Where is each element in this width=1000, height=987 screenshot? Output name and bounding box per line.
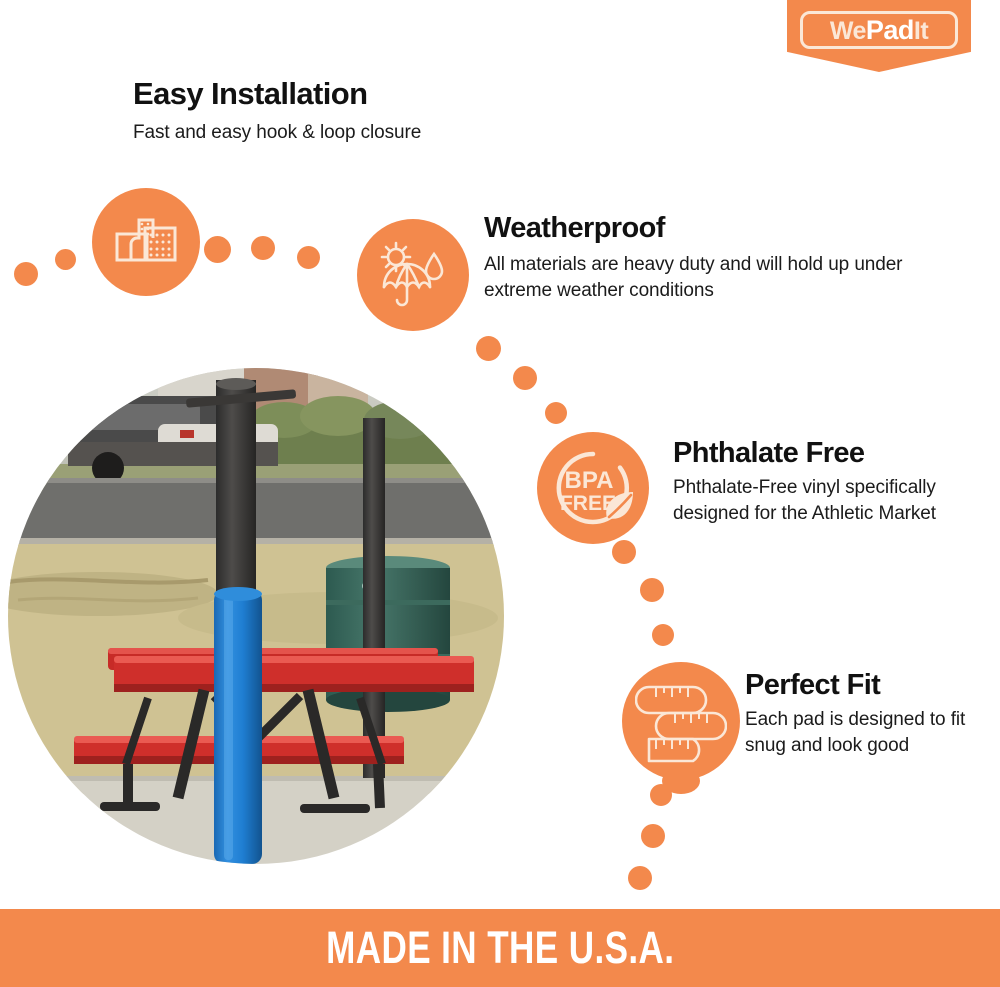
product-photo: [8, 368, 504, 864]
feature-block-phthalate-free: Phthalate Free Phthalate-Free vinyl spec…: [673, 438, 973, 526]
feature-title: Phthalate Free: [673, 438, 973, 468]
feature-title: Weatherproof: [484, 213, 914, 243]
path-dot: [545, 402, 567, 424]
path-dot: [640, 578, 664, 602]
path-dot: [652, 624, 674, 646]
feature-description: Each pad is designed to fit snug and loo…: [745, 707, 995, 757]
feature-icon-weatherproof: [357, 219, 469, 331]
feature-description: All materials are heavy duty and will ho…: [484, 252, 914, 302]
made-in-usa-text: MADE IN THE U.S.A.: [326, 922, 674, 974]
brand-logo: WePadIt: [787, 0, 971, 72]
feature-block-weatherproof: Weatherproof All materials are heavy dut…: [484, 213, 914, 303]
logo-text-we: We: [830, 17, 866, 45]
path-dot: [513, 366, 537, 390]
infographic-page: WePadIt Easy Installation Fast and easy …: [0, 0, 1000, 987]
feature-block-easy-installation: Easy Installation Fast and easy hook & l…: [133, 78, 553, 145]
feature-title: Perfect Fit: [745, 670, 995, 700]
product-photo-illustration: [8, 368, 504, 864]
feature-description: Fast and easy hook & loop closure: [133, 120, 553, 145]
path-dot: [55, 249, 76, 270]
hook-and-loop-strap-icon: [114, 214, 178, 270]
sun-umbrella-raindrop-icon: [376, 240, 450, 310]
path-dot: [641, 824, 665, 848]
made-in-usa-banner: MADE IN THE U.S.A.: [0, 909, 1000, 987]
path-dot: [628, 866, 652, 890]
feature-icon-easy-installation: [92, 188, 200, 296]
feature-icon-phthalate-free: BPA FREE: [537, 432, 649, 544]
measuring-tape-icon: [635, 675, 727, 767]
perfect-fit-icon-tab: [662, 768, 700, 794]
feature-title: Easy Installation: [133, 78, 553, 111]
feature-block-perfect-fit: Perfect Fit Each pad is designed to fit …: [745, 670, 995, 758]
logo-text-it: It: [914, 17, 928, 45]
bpa-free-leaf-icon: BPA FREE: [545, 440, 641, 536]
path-dot: [297, 246, 320, 269]
feature-description: Phthalate-Free vinyl specifically design…: [673, 475, 973, 525]
path-dot: [251, 236, 275, 260]
path-dot: [14, 262, 38, 286]
bpa-icon-label-line1: BPA: [565, 467, 614, 494]
logo-text-pad: Pad: [866, 15, 914, 45]
feature-icon-perfect-fit: [622, 662, 740, 780]
path-dot: [476, 336, 501, 361]
logo-text-frame: WePadIt: [800, 11, 958, 49]
path-dot: [612, 540, 636, 564]
path-dot: [204, 236, 231, 263]
